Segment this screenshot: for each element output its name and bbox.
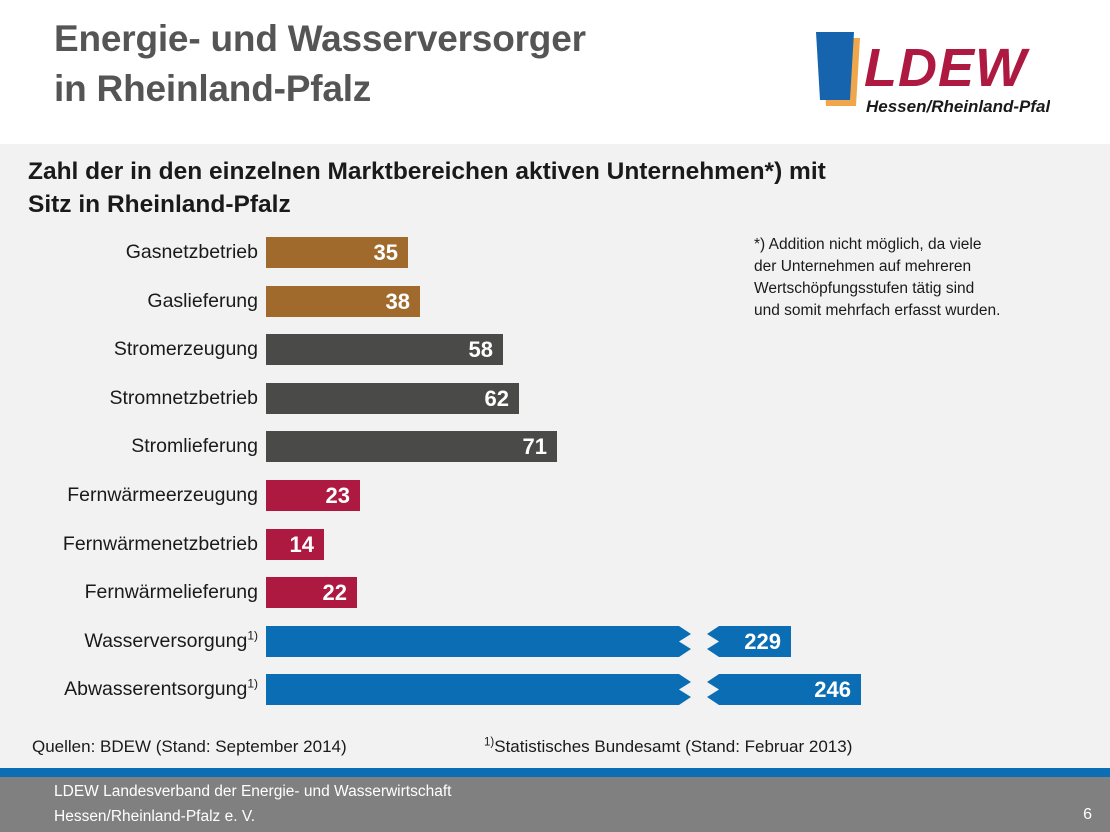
bar-label-text: Wasserversorgung	[84, 630, 247, 652]
footer-organisation: LDEW Landesverband der Energie- und Wass…	[54, 780, 451, 830]
chart-row: Stromnetzbetrieb62	[0, 374, 1110, 423]
chart-row: Fernwärmeerzeugung23	[0, 471, 1110, 520]
bar: 71	[266, 431, 557, 462]
chart-row: Wasserversorgung1)229	[0, 617, 1110, 666]
chart-row: Fernwärmenetzbetrieb14	[0, 520, 1110, 569]
bar-value: 62	[485, 383, 509, 414]
bar-label: Fernwärmelieferung	[85, 568, 258, 617]
slide-header: Energie- und Wasserversorger in Rheinlan…	[0, 0, 1110, 144]
bar: 23	[266, 480, 360, 511]
footer-line-1: LDEW Landesverband der Energie- und Wass…	[54, 780, 451, 805]
bar-segment-main	[266, 674, 691, 705]
bar-label: Stromnetzbetrieb	[110, 374, 259, 423]
bar-wrapper: 229	[266, 626, 791, 657]
logo-wordmark: LDEW	[864, 38, 1030, 98]
bar-value: 38	[386, 286, 410, 317]
bar: 58	[266, 334, 503, 365]
chart-row: Fernwärmelieferung22	[0, 568, 1110, 617]
bar-wrapper: 14	[266, 529, 324, 560]
bar-wrapper: 246	[266, 674, 861, 705]
source-right: 1)Statistisches Bundesamt (Stand: Februa…	[484, 737, 852, 757]
bar-label-footnote-marker: 1)	[247, 677, 258, 691]
bar-value: 23	[326, 480, 350, 511]
bar: 35	[266, 237, 408, 268]
slide-footer: LDEW Landesverband der Energie- und Wass…	[0, 768, 1110, 832]
bar-label: Fernwärmenetzbetrieb	[63, 520, 258, 569]
bar: 22	[266, 577, 357, 608]
bar-value: 71	[523, 431, 547, 462]
bar: 38	[266, 286, 420, 317]
chart-subtitle: Zahl der in den einzelnen Marktbereichen…	[28, 156, 968, 222]
bar: 14	[266, 529, 324, 560]
bar-label: Gaslieferung	[147, 277, 258, 326]
footer-accent-strip	[0, 768, 1110, 777]
bar-label-text: Abwasserentsorgung	[64, 678, 247, 700]
bar-segment-tail: 229	[707, 626, 791, 657]
bar-value: 22	[323, 577, 347, 608]
chart-row: Abwasserentsorgung1)246	[0, 665, 1110, 714]
bar-wrapper: 71	[266, 431, 557, 462]
bar: 62	[266, 383, 519, 414]
bar-value: 229	[744, 626, 781, 657]
bar-segment-main	[266, 626, 691, 657]
source-left: Quellen: BDEW (Stand: September 2014)	[32, 737, 347, 757]
bar-label: Wasserversorgung1)	[84, 617, 258, 666]
chart-subtitle-line-1: Zahl der in den einzelnen Marktbereichen…	[28, 156, 968, 189]
bar-label: Abwasserentsorgung1)	[64, 665, 258, 714]
chart-subtitle-line-2: Sitz in Rheinland-Pfalz	[28, 189, 968, 222]
chart-row: Gaslieferung38	[0, 277, 1110, 326]
page-title-line-2: in Rheinland-Pfalz	[54, 64, 774, 114]
bar-label: Stromlieferung	[131, 422, 258, 471]
chart-row: Stromerzeugung58	[0, 325, 1110, 374]
bar-value: 35	[374, 237, 398, 268]
footer-line-2: Hessen/Rheinland-Pfalz e. V.	[54, 805, 451, 830]
bar-wrapper: 58	[266, 334, 503, 365]
bar-wrapper: 23	[266, 480, 360, 511]
chart-row: Stromlieferung71	[0, 422, 1110, 471]
bar-chart: Gasnetzbetrieb35Gaslieferung38Stromerzeu…	[0, 228, 1110, 720]
logo-blue-shape	[816, 32, 854, 100]
logo-tagline: Hessen/Rheinland-Pfalz	[866, 97, 1050, 116]
slide: Energie- und Wasserversorger in Rheinlan…	[0, 0, 1110, 832]
bar-wrapper: 22	[266, 577, 357, 608]
source-right-text: Statistisches Bundesamt (Stand: Februar …	[494, 737, 852, 756]
bar-label: Gasnetzbetrieb	[126, 228, 258, 277]
bar-label: Stromerzeugung	[114, 325, 258, 374]
bar-wrapper: 62	[266, 383, 519, 414]
bar-segment-tail: 246	[707, 674, 861, 705]
bar-wrapper: 35	[266, 237, 408, 268]
chart-row: Gasnetzbetrieb35	[0, 228, 1110, 277]
bar-value: 14	[290, 529, 314, 560]
bar-wrapper: 38	[266, 286, 420, 317]
page-title-line-1: Energie- und Wasserversorger	[54, 14, 774, 64]
source-right-marker: 1)	[484, 736, 494, 748]
bar-label-footnote-marker: 1)	[247, 628, 258, 642]
bar-value: 58	[469, 334, 493, 365]
bar-value: 246	[814, 674, 851, 705]
bar-label: Fernwärmeerzeugung	[67, 471, 258, 520]
page-title: Energie- und Wasserversorger in Rheinlan…	[54, 14, 774, 115]
ldew-logo: LDEW Hessen/Rheinland-Pfalz	[812, 28, 1050, 120]
page-number: 6	[1083, 806, 1092, 824]
